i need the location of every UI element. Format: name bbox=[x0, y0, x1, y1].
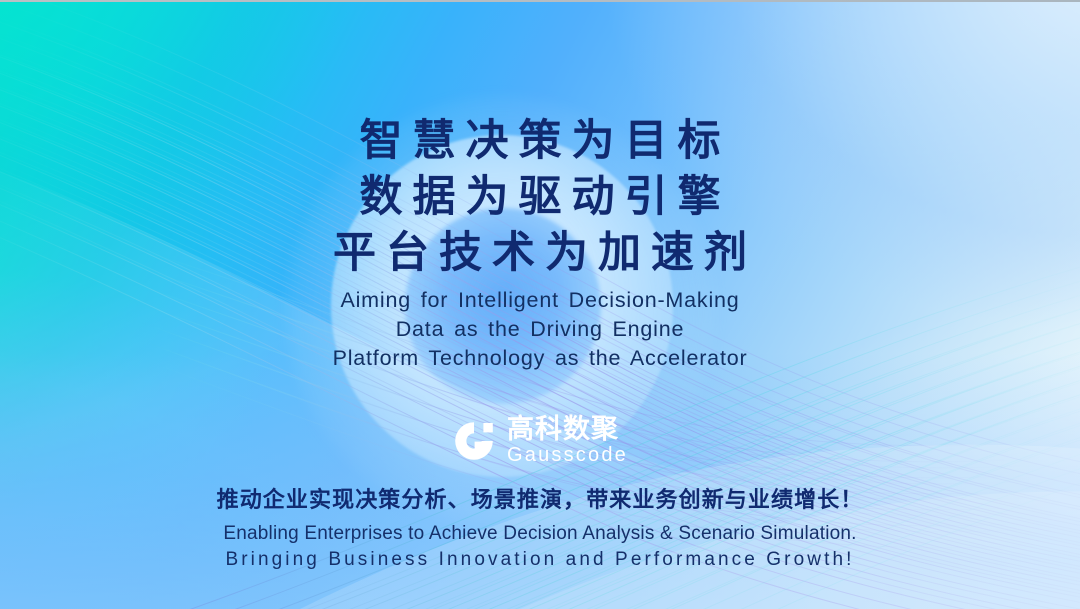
subheadline-line-3: Platform Technology as the Accelerator bbox=[333, 344, 748, 373]
subheadline-block: Aiming for Intelligent Decision-Making D… bbox=[333, 286, 748, 373]
banner-content: 智慧决策为目标 数据为驱动引擎 平台技术为加速剂 Aiming for Inte… bbox=[0, 0, 1080, 609]
headline-line-2: 数据为驱动引擎 bbox=[323, 169, 757, 225]
brand-logo-wordmark: 高科数聚 Gausscode bbox=[507, 415, 628, 467]
subheadline-line-1: Aiming for Intelligent Decision-Making bbox=[333, 286, 748, 315]
subheadline-line-2: Data as the Driving Engine bbox=[333, 315, 748, 344]
footer-tagline-en-line2: Bringing Business Innovation and Perform… bbox=[225, 547, 854, 573]
brand-logo: 高科数聚 Gausscode bbox=[452, 415, 628, 467]
gausscode-ring-logo-icon bbox=[452, 419, 496, 463]
footer-block: 推动企业实现决策分析、场景推演，带来业务创新与业绩增长！ Enabling En… bbox=[217, 485, 864, 573]
brand-name-en: Gausscode bbox=[507, 444, 628, 467]
brand-name-zh: 高科数聚 bbox=[507, 415, 619, 443]
footer-tagline-en-line1: Enabling Enterprises to Achieve Decision… bbox=[223, 521, 856, 547]
headline-block: 智慧决策为目标 数据为驱动引擎 平台技术为加速剂 bbox=[323, 113, 757, 281]
headline-line-3: 平台技术为加速剂 bbox=[323, 225, 757, 281]
footer-tagline-zh: 推动企业实现决策分析、场景推演，带来业务创新与业绩增长！ bbox=[217, 485, 864, 515]
headline-line-1: 智慧决策为目标 bbox=[323, 113, 757, 169]
marketing-banner: 智慧决策为目标 数据为驱动引擎 平台技术为加速剂 Aiming for Inte… bbox=[0, 0, 1080, 609]
